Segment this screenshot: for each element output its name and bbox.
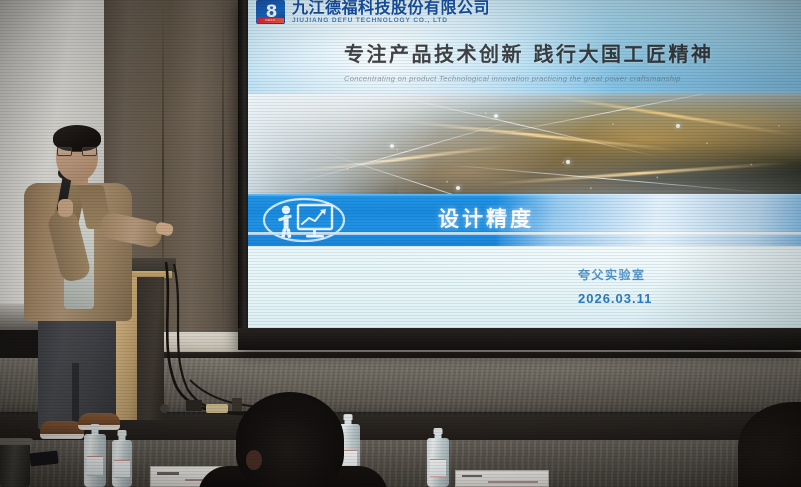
water-bottle bbox=[427, 428, 449, 487]
speaker-hand-holding-mic bbox=[58, 199, 73, 217]
cable-adapter bbox=[206, 404, 228, 413]
water-bottle bbox=[84, 424, 106, 487]
company-logo-icon: 8 DEFU bbox=[256, 0, 285, 24]
company-name-block: 九江德福科技股份有限公司 JIUJIANG DEFU TECHNOLOGY CO… bbox=[292, 0, 490, 25]
water-bottle bbox=[112, 430, 132, 487]
glasses-lens-left bbox=[57, 147, 72, 156]
name-card-line bbox=[157, 472, 179, 475]
bottle-label bbox=[114, 460, 129, 478]
shoe-sole bbox=[40, 434, 84, 439]
slide-city-photo bbox=[248, 94, 801, 201]
projection-screen-frame: 8 DEFU 九江德福科技股份有限公司 JIUJIANG DEFU TECHNO… bbox=[238, 0, 801, 350]
speaker-glasses bbox=[57, 147, 97, 156]
slide-company-header: 8 DEFU 九江德福科技股份有限公司 JIUJIANG DEFU TECHNO… bbox=[256, 0, 490, 25]
paper-cup bbox=[0, 442, 30, 487]
slide-title-banner: 设计精度 bbox=[248, 194, 801, 246]
company-name-cn: 九江德福科技股份有限公司 bbox=[292, 0, 490, 16]
slogan-chinese: 专注产品技术创新 践行大国工匠精神 bbox=[344, 38, 801, 67]
bottle-label bbox=[87, 456, 104, 476]
screen-bezel-bottom bbox=[238, 328, 801, 350]
audience-ear bbox=[246, 450, 262, 470]
slogan-english: Concentrating on product Technological i… bbox=[344, 74, 801, 83]
presentation-photo-scene: 8 DEFU 九江德福科技股份有限公司 JIUJIANG DEFU TECHNO… bbox=[0, 0, 801, 487]
network-node bbox=[676, 124, 680, 128]
bottle-body bbox=[84, 434, 106, 487]
logo-subtext: DEFU bbox=[257, 18, 284, 23]
company-name-en: JIUJIANG DEFU TECHNOLOGY CO., LTD bbox=[292, 18, 490, 25]
presenter-chart-icon bbox=[262, 197, 346, 243]
slide-lab-name: 夸父实验室 bbox=[578, 266, 646, 283]
slide-date: 2026.03.11 bbox=[578, 291, 652, 306]
table-name-card bbox=[455, 470, 549, 487]
cable-adapter bbox=[186, 400, 202, 411]
glasses-bridge bbox=[72, 151, 82, 152]
slide-slogan-block: 专注产品技术创新 践行大国工匠精神 Concentrating on produ… bbox=[344, 38, 801, 83]
banner-title-text: 设计精度 bbox=[438, 203, 534, 233]
slide-footer: 夸父实验室 2026.03.11 bbox=[248, 246, 801, 329]
glasses-lens-right bbox=[82, 147, 97, 156]
network-node bbox=[566, 160, 570, 164]
screen-glare-highlight bbox=[498, 194, 801, 246]
photo-haze-overlay bbox=[248, 94, 498, 201]
banner-top-stripe bbox=[248, 194, 801, 196]
audience-head-foreground bbox=[236, 392, 344, 487]
presentation-slide: 8 DEFU 九江德福科技股份有限公司 JIUJIANG DEFU TECHNO… bbox=[248, 0, 801, 329]
bottle-body bbox=[427, 438, 449, 487]
bottle-label bbox=[430, 459, 447, 478]
speaker-person bbox=[16, 125, 176, 445]
cable-adapter bbox=[232, 398, 242, 411]
name-card-line bbox=[462, 475, 482, 477]
cup-lid bbox=[0, 438, 33, 445]
bottle-body bbox=[112, 440, 132, 487]
name-card-line bbox=[488, 481, 538, 483]
